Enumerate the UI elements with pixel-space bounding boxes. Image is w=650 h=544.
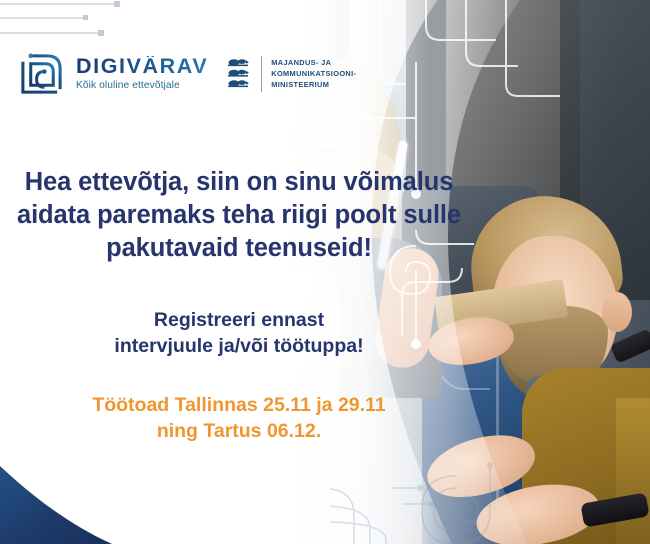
digivarav-watermark xyxy=(330,458,540,544)
subheadline-line1: Registreeri ennast xyxy=(0,308,478,334)
ministry-name-line1: Majandus- ja xyxy=(271,57,356,68)
estonia-three-lions-crest xyxy=(226,57,252,91)
workshop-dates: Töötoad Tallinnas 25.11 ja 29.11 ning Ta… xyxy=(0,392,478,445)
subheadline-line2: intervjuule ja/või töötuppa! xyxy=(0,334,478,360)
headline-line1: Hea ettevõtja, siin on sinu võimalus xyxy=(0,166,478,199)
promo-poster: DIGIVÄRAV Kõik oluline ettevõtjale xyxy=(0,0,650,544)
ministry-logo[interactable]: Majandus- ja Kommunikatsiooni- ministeer… xyxy=(226,56,356,92)
subheadline: Registreeri ennast intervjuule ja/või tö… xyxy=(0,308,478,360)
bearded-man-ear xyxy=(602,292,632,332)
digivarav-wordmark: DIGIVÄRAV xyxy=(76,56,208,78)
logo-divider xyxy=(261,56,262,92)
digivarav-tagline: Kõik oluline ettevõtjale xyxy=(76,81,208,91)
bearded-man-shirt-sleeve xyxy=(616,398,650,544)
horizontal-dash-lines xyxy=(0,0,180,50)
headline-line3: pakutavaid teenuseid! xyxy=(0,232,478,265)
workshop-dates-line2: ning Tartus 06.12. xyxy=(0,418,478,444)
ministry-name: Majandus- ja Kommunikatsiooni- ministeer… xyxy=(271,57,356,91)
headline: Hea ettevõtja, siin on sinu võimalus aid… xyxy=(0,166,478,265)
ministry-name-line2: Kommunikatsiooni- xyxy=(271,68,356,79)
workshop-dates-line1: Töötoad Tallinnas 25.11 ja 29.11 xyxy=(0,392,478,418)
logo-row: DIGIVÄRAV Kõik oluline ettevõtjale xyxy=(18,50,356,97)
digivarav-gateway-mark xyxy=(18,50,65,97)
digivarav-logo[interactable]: DIGIVÄRAV Kõik oluline ettevõtjale xyxy=(18,50,208,97)
navy-curved-corner xyxy=(0,444,130,544)
ministry-name-line3: ministeerium xyxy=(271,79,356,90)
headline-line2: aidata paremaks teha riigi poolt sulle xyxy=(0,199,478,232)
